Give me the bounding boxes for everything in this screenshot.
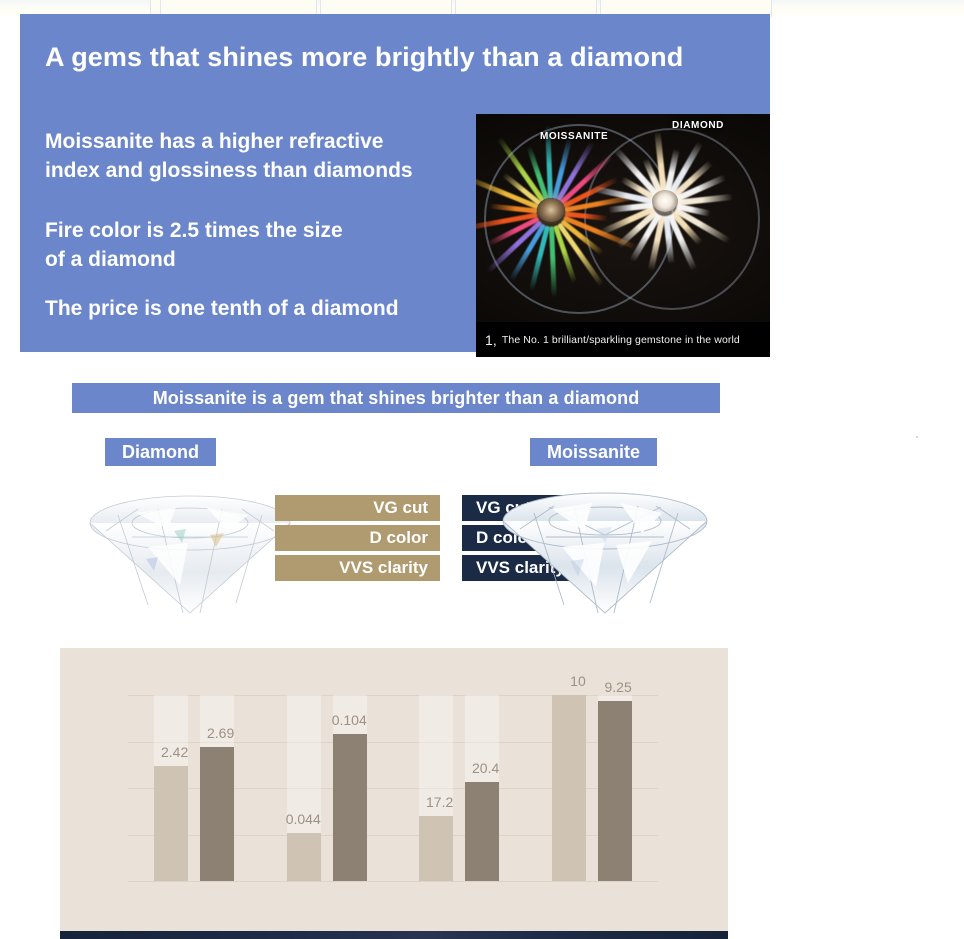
spec-diamond-cut-text: VG cut [373, 498, 428, 518]
photo-label-diamond: DIAMOND [672, 120, 724, 131]
chart-bar-diamond [419, 816, 453, 881]
hero-paragraph-fire: Fire color is 2.5 times the size of a di… [45, 216, 343, 274]
section-subtitle-banner: Moissanite is a gem that shines brighter… [72, 383, 720, 413]
cursor-dot [916, 436, 918, 438]
hero-title: A gems that shines more brightly than a … [45, 42, 683, 73]
label-chip-diamond-text: Diamond [122, 442, 199, 463]
label-chip-diamond: Diamond [105, 438, 216, 466]
caption-text: The No. 1 brilliant/sparkling gemstone i… [502, 334, 740, 346]
chart-value-label: 2.69 [174, 725, 234, 741]
hero-banner: A gems that shines more brightly than a … [20, 14, 770, 352]
chart-bar-moissanite [598, 701, 632, 881]
gem-property-bar-chart: 2.422.69Refractive index0.0440.104Disper… [60, 648, 728, 931]
gem-photo-stage: MOISSANITE DIAMOND [476, 114, 770, 322]
chart-bar-moissanite [200, 747, 234, 881]
diamond-gem-illustration [88, 485, 293, 620]
chart-value-label: 0.044 [261, 811, 321, 827]
gem-dispersion-photo: MOISSANITE DIAMOND 1, The No. 1 brillian… [476, 114, 770, 357]
hero-paragraph-refraction-line2: index and glossiness than diamonds [45, 156, 413, 185]
moissanite-gem-illustration [500, 483, 710, 618]
gem-comparison-section: Diamond Moissanite [60, 435, 760, 625]
moissanite-stone-core [537, 198, 565, 222]
spec-list-diamond: VG cut D color VVS clarity [275, 495, 440, 585]
chart-bar-diamond [552, 695, 586, 881]
spec-diamond-clarity: VVS clarity [275, 555, 440, 581]
cutoff-bottom-strip [60, 931, 728, 939]
caption-number: 1, [485, 332, 497, 348]
chart-bar-diamond [154, 766, 188, 881]
hero-paragraph-refraction-line1: Moissanite has a higher refractive [45, 127, 413, 156]
spec-diamond-color: D color [275, 525, 440, 551]
label-chip-moissanite: Moissanite [530, 438, 657, 466]
hero-paragraph-fire-line1: Fire color is 2.5 times the size [45, 216, 343, 245]
chart-value-label: 0.104 [307, 712, 367, 728]
spec-diamond-cut: VG cut [275, 495, 440, 521]
hero-paragraph-fire-line2: of a diamond [45, 245, 343, 274]
chart-value-label: 20.4 [439, 760, 499, 776]
chart-bar-moissanite [333, 734, 367, 881]
diamond-stone-core [652, 190, 678, 212]
chart-value-label: 9.25 [572, 679, 632, 695]
photo-label-moissanite: MOISSANITE [540, 131, 608, 142]
chart-bar-diamond [287, 833, 321, 881]
section-subtitle-text: Moissanite is a gem that shines brighter… [153, 388, 640, 409]
chart-baseline-axis [128, 881, 658, 882]
hero-paragraph-refraction: Moissanite has a higher refractive index… [45, 127, 413, 185]
spec-diamond-color-text: D color [369, 528, 428, 548]
spec-diamond-clarity-text: VVS clarity [339, 558, 428, 578]
chart-plot-area: 2.422.69Refractive index0.0440.104Disper… [128, 695, 658, 881]
chart-value-label: 17.2 [393, 794, 453, 810]
hero-paragraph-price: The price is one tenth of a diamond [45, 294, 399, 323]
gem-photo-caption: 1, The No. 1 brilliant/sparkling gemston… [476, 322, 770, 357]
chart-value-label: 2.42 [128, 744, 188, 760]
label-chip-moissanite-text: Moissanite [547, 442, 640, 463]
chart-bar-moissanite [465, 782, 499, 881]
